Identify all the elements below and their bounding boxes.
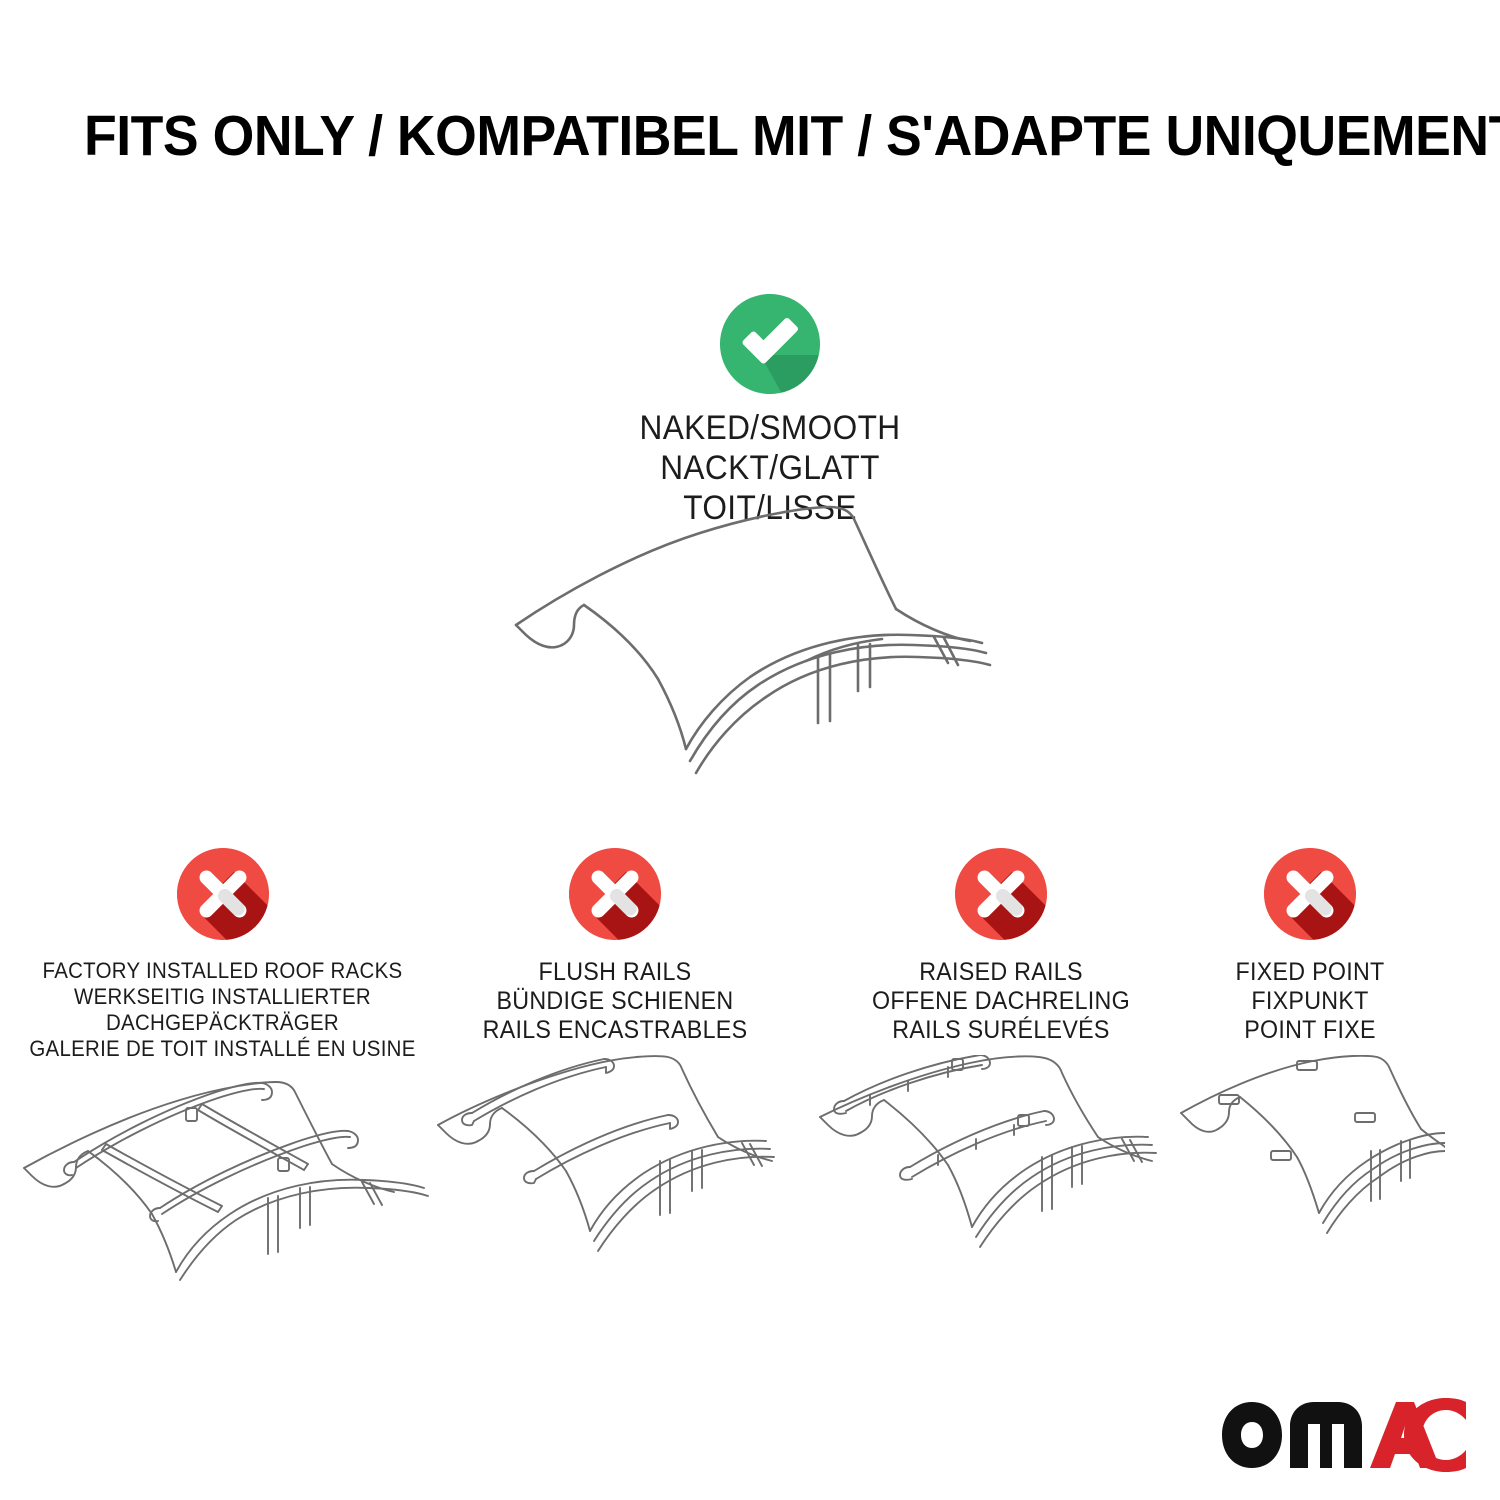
labels-raised-rails: RAISED RAILS OFFENE DACHRELING RAILS SUR…	[825, 958, 1177, 1045]
label-fr: POINT FIXE	[1184, 1016, 1435, 1045]
label-de: BÜNDIGE SCHIENEN	[443, 987, 787, 1016]
car-roof-naked-smooth-illustration	[500, 505, 1040, 795]
compatible-label-en: NAKED/SMOOTH	[491, 408, 1049, 448]
incompatible-roof-types: FACTORY INSTALLED ROOF RACKS WERKSEITIG …	[0, 848, 1500, 1288]
incompatible-item-factory-rack: FACTORY INSTALLED ROOF RACKS WERKSEITIG …	[10, 848, 435, 1282]
label-en: FLUSH RAILS	[443, 958, 787, 987]
compatible-label-de: NACKT/GLATT	[491, 448, 1049, 488]
labels-fixed-point: FIXED POINT FIXPUNKT POINT FIXE	[1184, 958, 1435, 1045]
label-en: FACTORY INSTALLED ROOF RACKS	[25, 958, 420, 984]
label-de: OFFENE DACHRELING	[825, 987, 1177, 1016]
incompatible-item-raised-rails: RAISED RAILS OFFENE DACHRELING RAILS SUR…	[812, 848, 1190, 1265]
car-roof-flush-rails-illustration	[430, 1055, 800, 1265]
label-de-line1: WERKSEITIG INSTALLIERTER	[25, 984, 420, 1010]
omac-logo	[1218, 1398, 1466, 1472]
car-roof-factory-rack-illustration	[10, 1072, 435, 1282]
car-roof-raised-rails-illustration	[812, 1055, 1190, 1265]
page-title: FITS ONLY / KOMPATIBEL MIT / S'ADAPTE UN…	[84, 106, 1344, 166]
x-circle-icon	[569, 848, 661, 940]
label-de-line2: DACHGEPÄCKTRÄGER	[25, 1010, 420, 1036]
label-de: FIXPUNKT	[1184, 987, 1435, 1016]
label-fr: GALERIE DE TOIT INSTALLÉ EN USINE	[25, 1036, 420, 1062]
labels-factory-rack: FACTORY INSTALLED ROOF RACKS WERKSEITIG …	[25, 958, 420, 1062]
incompatible-item-flush-rails: FLUSH RAILS BÜNDIGE SCHIENEN RAILS ENCAS…	[430, 848, 800, 1265]
label-fr: RAILS ENCASTRABLES	[443, 1016, 787, 1045]
label-fr: RAILS SURÉLEVÉS	[825, 1016, 1177, 1045]
fitment-infographic: FITS ONLY / KOMPATIBEL MIT / S'ADAPTE UN…	[0, 0, 1500, 1500]
labels-flush-rails: FLUSH RAILS BÜNDIGE SCHIENEN RAILS ENCAS…	[443, 958, 787, 1045]
x-circle-icon	[177, 848, 269, 940]
x-circle-icon	[955, 848, 1047, 940]
label-en: RAISED RAILS	[825, 958, 1177, 987]
car-roof-fixed-point-illustration	[1175, 1055, 1445, 1265]
incompatible-item-fixed-point: FIXED POINT FIXPUNKT POINT FIXE	[1175, 848, 1445, 1265]
check-circle-icon	[720, 294, 820, 394]
x-circle-icon	[1264, 848, 1356, 940]
compatible-roof-type: NAKED/SMOOTH NACKT/GLATT TOIT/LISSE	[470, 294, 1070, 528]
label-en: FIXED POINT	[1184, 958, 1435, 987]
